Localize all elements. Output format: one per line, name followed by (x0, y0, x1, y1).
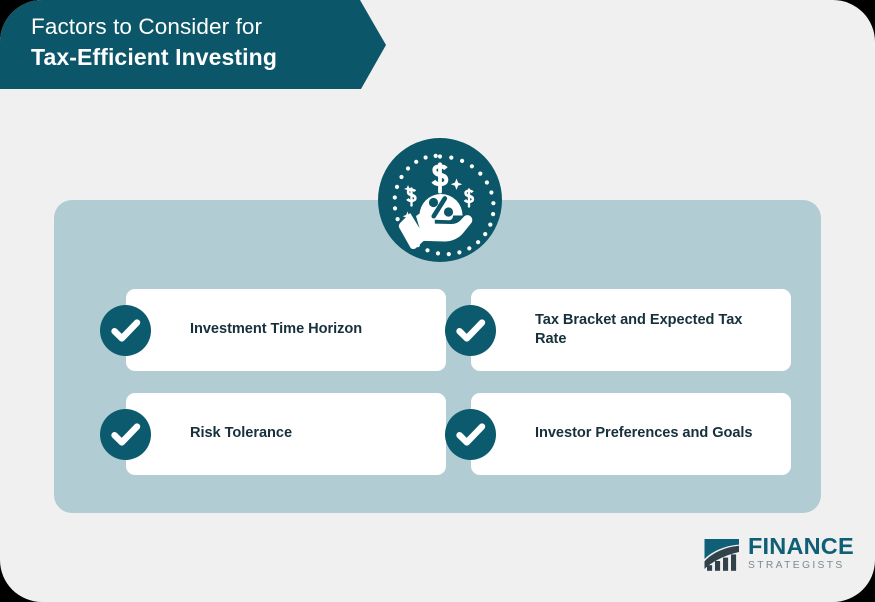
card-label: Investment Time Horizon (190, 289, 428, 371)
header-title-line2: Tax-Efficient Investing (31, 42, 341, 72)
check-icon (100, 305, 151, 356)
header-title: Factors to Consider for Tax-Efficient In… (31, 12, 341, 72)
factors-card-grid: Investment Time Horizon Tax Bracket and … (54, 289, 821, 477)
factor-card-3: Risk Tolerance (126, 393, 446, 475)
header-banner: Factors to Consider for Tax-Efficient In… (0, 0, 386, 89)
check-icon (445, 305, 496, 356)
logo-primary-text: FINANCE (748, 534, 854, 558)
infographic-page: Factors to Consider for Tax-Efficient In… (0, 0, 875, 602)
hand-holding-coin-percent-icon (378, 138, 502, 262)
card-label: Tax Bracket and Expected Tax Rate (535, 289, 773, 371)
factor-card-4: Investor Preferences and Goals (471, 393, 791, 475)
card-label: Investor Preferences and Goals (535, 393, 773, 475)
finance-strategists-logo: FINANCE STRATEGISTS (702, 531, 844, 575)
factor-card-1: Investment Time Horizon (126, 289, 446, 371)
bridge-bars-logo-icon (702, 533, 742, 573)
header-title-line1: Factors to Consider for (31, 12, 341, 42)
check-icon (445, 409, 496, 460)
factor-card-2: Tax Bracket and Expected Tax Rate (471, 289, 791, 371)
logo-wordmark: FINANCE STRATEGISTS (748, 534, 854, 573)
card-label: Risk Tolerance (190, 393, 428, 475)
check-icon (100, 409, 151, 460)
logo-secondary-text: STRATEGISTS (748, 559, 854, 573)
